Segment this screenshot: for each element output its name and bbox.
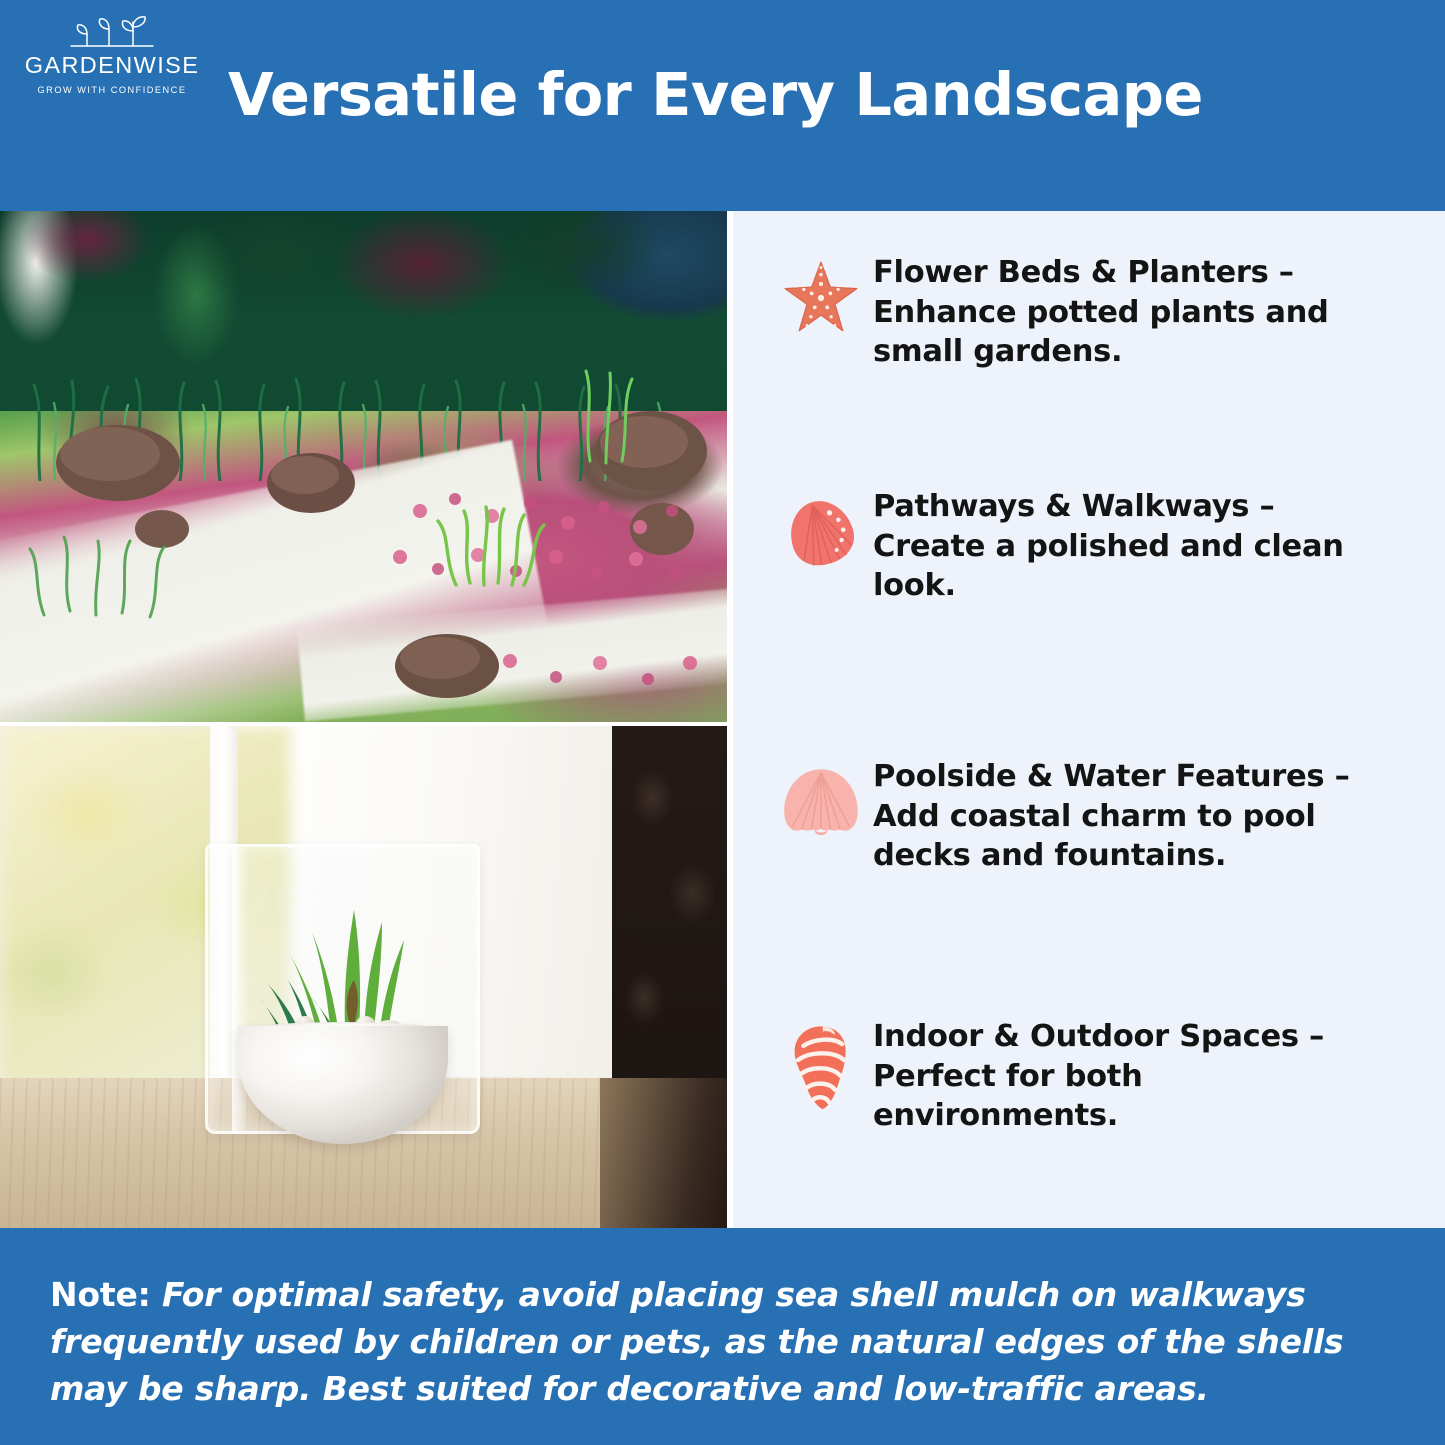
note-text: Note: For optimal safety, avoid placing … <box>50 1272 1399 1413</box>
header-banner: GARDENWISE GROW WITH CONFIDENCE Versatil… <box>0 0 1445 211</box>
note-banner: Note: For optimal safety, avoid placing … <box>0 1228 1445 1445</box>
feature-text: Indoor & Outdoor Spaces – Perfect for bo… <box>873 1017 1373 1136</box>
note-label: Note: <box>50 1275 151 1314</box>
note-body: For optimal safety, avoid placing sea sh… <box>50 1275 1343 1408</box>
feature-item-indoor-outdoor: Indoor & Outdoor Spaces – Perfect for bo… <box>769 1017 1419 1136</box>
brand-logo: GARDENWISE GROW WITH CONFIDENCE <box>14 14 210 106</box>
scallop-shell-icon <box>769 757 873 843</box>
feature-item-pathways: Pathways & Walkways – Create a polished … <box>769 487 1419 606</box>
page-title: Versatile for Every Landscape <box>228 64 1408 127</box>
garden-bed-photo <box>0 211 727 722</box>
brand-name: GARDENWISE <box>25 54 200 78</box>
conch-shell-icon <box>769 1017 873 1111</box>
feature-item-flower-beds: Flower Beds & Planters – Enhance potted … <box>769 253 1419 372</box>
content-area: Flower Beds & Planters – Enhance potted … <box>0 211 1445 1228</box>
feature-text: Flower Beds & Planters – Enhance potted … <box>873 253 1373 372</box>
feature-text: Pathways & Walkways – Create a polished … <box>873 487 1373 606</box>
indoor-planter-photo <box>0 726 727 1228</box>
feature-text: Poolside & Water Features – Add coastal … <box>873 757 1373 876</box>
features-panel: Flower Beds & Planters – Enhance potted … <box>733 211 1445 1228</box>
fan-shell-icon <box>769 487 873 571</box>
garden-detail-overlay <box>0 211 727 722</box>
photo-column <box>0 211 727 1228</box>
seedling-sprouts-icon <box>57 14 167 52</box>
feature-item-poolside: Poolside & Water Features – Add coastal … <box>769 757 1419 876</box>
infographic-page: GARDENWISE GROW WITH CONFIDENCE Versatil… <box>0 0 1445 1445</box>
brand-tagline: GROW WITH CONFIDENCE <box>38 85 187 95</box>
starfish-icon <box>769 253 873 337</box>
